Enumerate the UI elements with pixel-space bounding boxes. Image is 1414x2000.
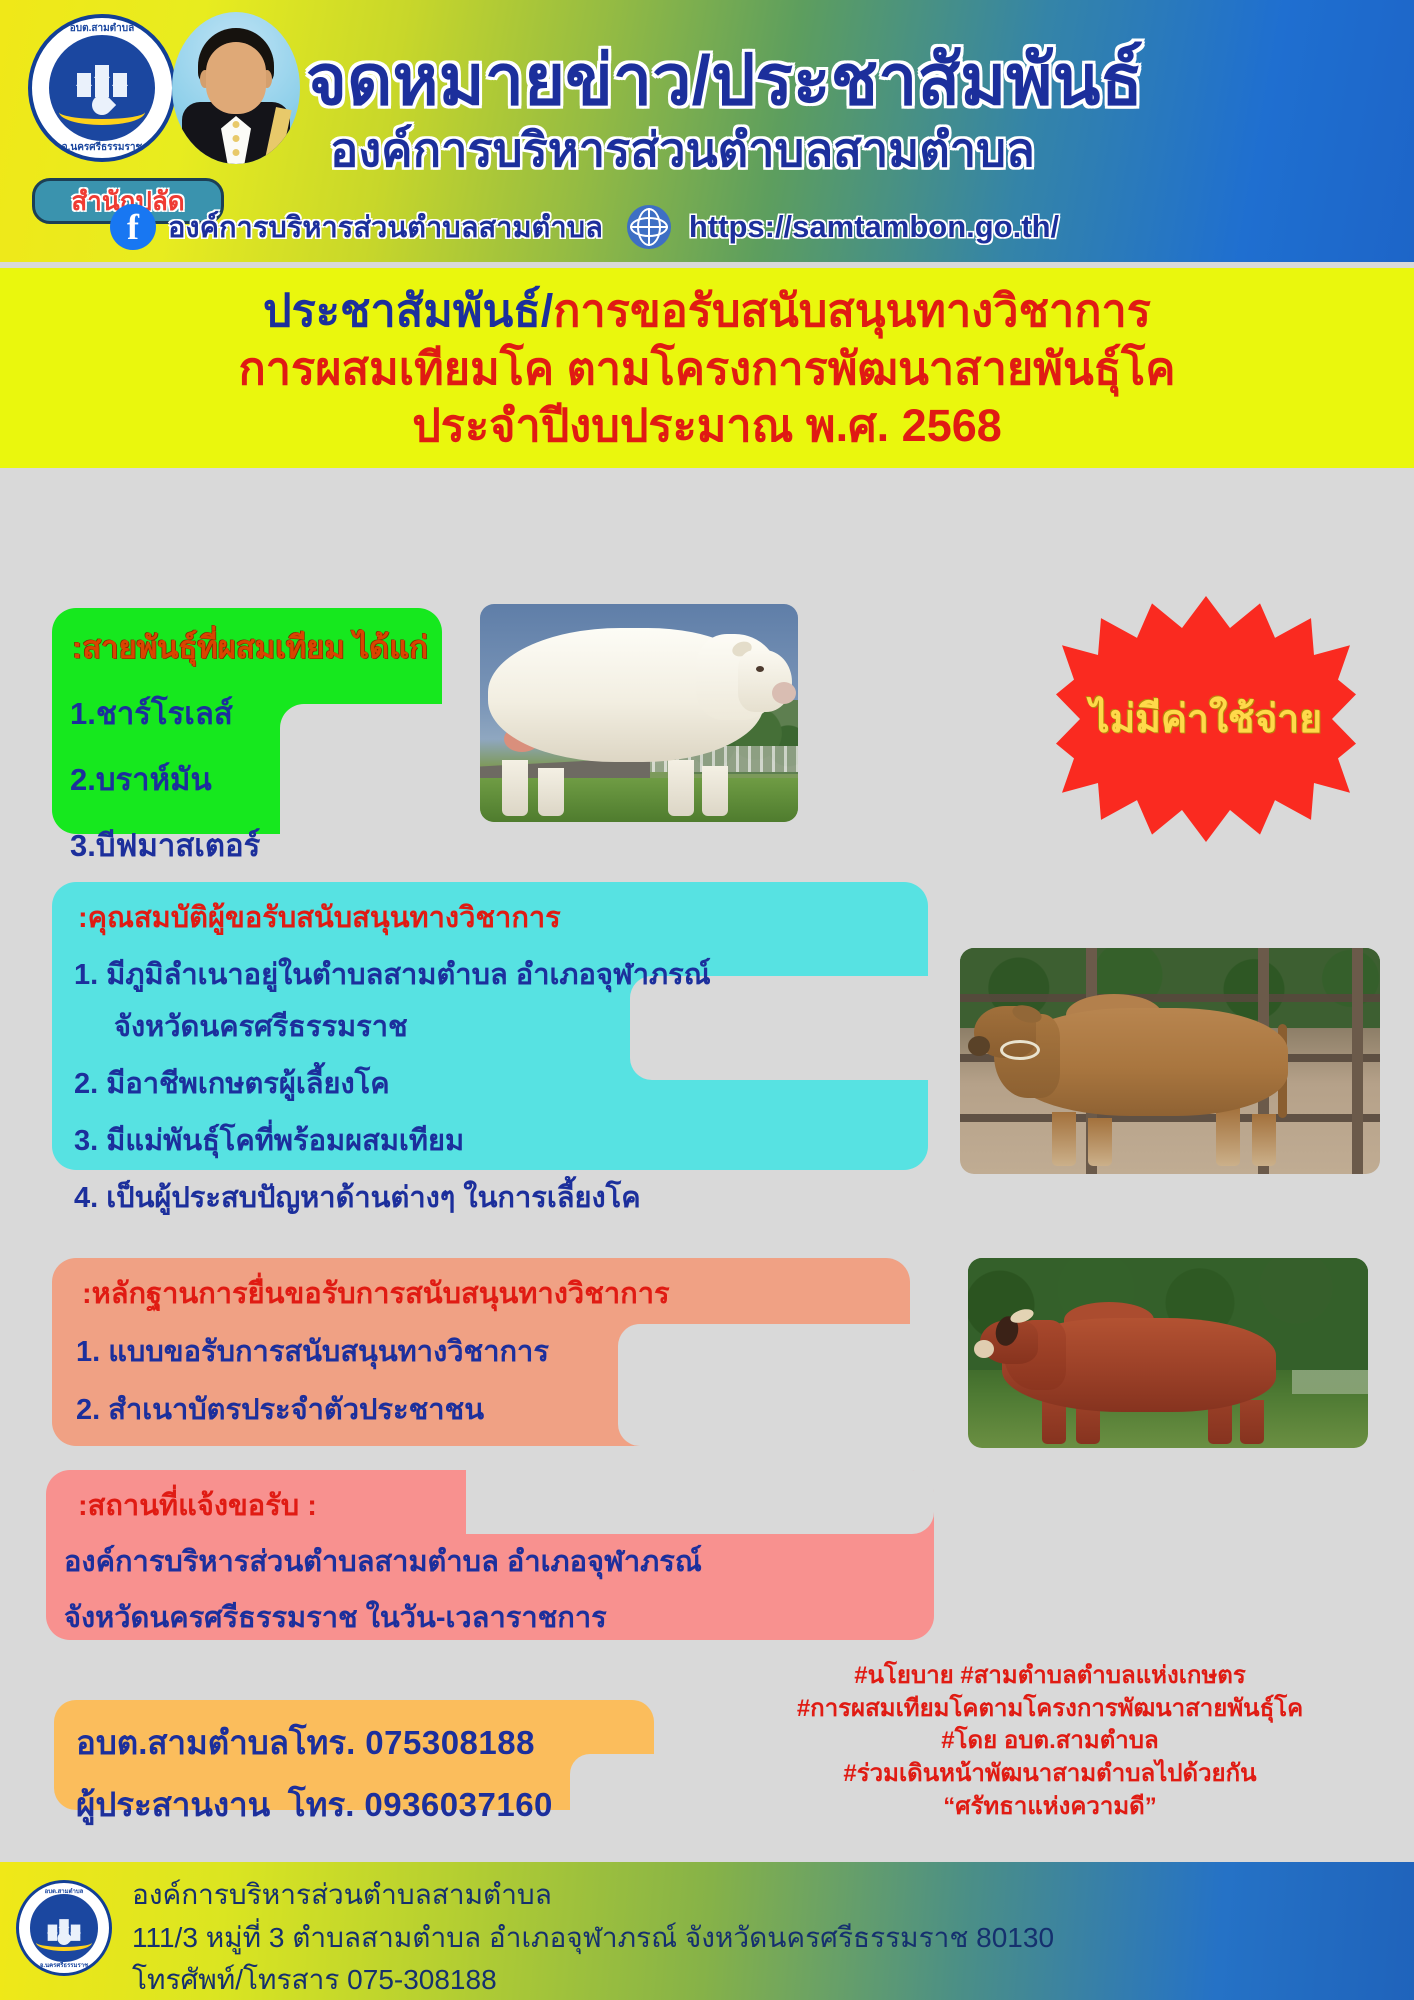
globe-icon[interactable] [627,205,671,249]
contact-phone-box: อบต.สามตำบล โทร. 075308188 ผู้ประสานงาน … [54,1700,654,1810]
list-item: 3. มีแม่พันธุ์โคที่พร้อมผสมเทียม [52,1117,928,1163]
seal-top-text: อบต.สามตำบล [70,21,135,36]
contact-office-label: อบต.สามตำบล [76,1716,289,1769]
portrait-face [206,42,266,114]
footer-org-name: องค์การบริหารส่วนตำบลสามตำบล [132,1874,1054,1917]
announcement-banner: ประชาสัมพันธ์/การขอรับสนับสนุนทางวิชาการ… [0,268,1414,468]
page-subtitle: องค์การบริหารส่วนตำบลสามตำบล [330,112,1035,187]
banner-line-3: ประจำปีงบประมาณ พ.ศ. 2568 [0,397,1414,455]
list-item: 3.บีฟมาสเตอร์ [52,820,442,870]
contact-row-office: อบต.สามตำบล โทร. 075308188 [54,1700,654,1769]
brahman-cow-photo [960,948,1380,1174]
list-item: 1. แบบขอรับการสนับสนุนทางวิชาการ [52,1328,910,1374]
footer-phone: โทรศัพท์/โทรสาร 075-308188 [132,1959,1054,2000]
seal-ring-text: อบต.สามตำบล จ.นครศรีธรรมราช [32,18,172,158]
list-item: จังหวัดนครศรีธรรมราช [52,1003,928,1049]
footer-address: 111/3 หมู่ที่ 3 ตำบลสามตำบล อำเภอจุฬาภรณ… [132,1917,1054,1960]
list-item: 1. มีภูมิลำเนาอยู่ในตำบลสามตำบล อำเภอจุฬ… [52,951,928,997]
banner-line-1-red: การขอรับสนับสนุนทางวิชาการ [553,285,1151,336]
hashtag-line: #นโยบาย #สามตำบลตำบลแห่งเกษตร [700,1660,1400,1693]
avatar [172,12,300,164]
hashtag-block: #นโยบาย #สามตำบลตำบลแห่งเกษตร #การผสมเที… [700,1660,1400,1823]
contact-office-number[interactable]: 075308188 [365,1724,535,1762]
hashtag-line: #การผสมเทียมโคตามโครงการพัฒนาสายพันธุ์โค [700,1693,1400,1726]
facebook-icon[interactable]: f [110,204,156,250]
list-item: 2.บราห์มัน [52,754,442,804]
hashtag-line: #ร่วมเดินหน้าพัฒนาสามตำบลไปด้วยกัน [700,1758,1400,1791]
hashtag-line: #โดย อบต.สามตำบล [700,1725,1400,1758]
submission-location-box: :สถานที่แจ้งขอรับ : องค์การบริหารส่วนตำบ… [46,1470,934,1640]
municipal-seal-icon: อบต.สามตำบล จ.นครศรีธรรมราช [28,14,176,162]
list-item: 2. สำเนาบัตรประจำตัวประชาชน [52,1386,910,1432]
seal-bottom-text: จ.นครศรีธรรมราช [62,140,142,155]
breeds-list-box: :สายพันธุ์ที่ผสมเทียม ได้แก่ 1.ชาร์โรเลส… [52,608,442,834]
breeds-title: :สายพันธุ์ที่ผสมเทียม ได้แก่ [52,622,442,672]
contact-row-coordinator: ผู้ประสานงาน โทร. 0936037160 [54,1769,654,1831]
banner-line-1: ประชาสัมพันธ์/การขอรับสนับสนุนทางวิชาการ [0,282,1414,340]
footer-municipal-seal-icon: อบต.สามตำบล จ.นครศรีธรรมราช [16,1880,112,1976]
footer-seal-top-text: อบต.สามตำบล [45,1886,84,1896]
banner-line-2: การผสมเทียมโค ตามโครงการพัฒนาสายพันธุ์โค [0,340,1414,398]
documents-title: :หลักฐานการยื่นขอรับการสนับสนุนทางวิชากา… [52,1258,910,1316]
facebook-page-label[interactable]: องค์การบริหารส่วนตำบลสามตำบล [168,204,603,250]
poster-footer: อบต.สามตำบล จ.นครศรีธรรมราช องค์การบริหา… [0,1862,1414,2000]
status-badge-label: ไม่มีค่าใช้จ่าย [1090,688,1322,750]
qualifications-title: :คุณสมบัติผู้ขอรับสนับสนุนทางวิชาการ [52,882,928,940]
contact-coordinator-prefix: โทร. [288,1778,354,1831]
website-url[interactable]: https://samtambon.go.th/ [689,209,1059,245]
beefmaster-bull-photo [968,1258,1368,1448]
location-line-1: องค์การบริหารส่วนตำบลสามตำบล อำเภอจุฬาภร… [46,1538,934,1584]
list-item: 4. เป็นผู้ประสบปัญหาด้านต่างๆ ในการเลี้ย… [52,1174,928,1220]
qualifications-box: :คุณสมบัติผู้ขอรับสนับสนุนทางวิชาการ 1. … [52,882,928,1170]
required-documents-box: :หลักฐานการยื่นขอรับการสนับสนุนทางวิชากา… [52,1258,910,1446]
banner-line-1-blue: ประชาสัมพันธ์/ [263,285,553,336]
list-item: 1.ชาร์โรเลส์ [52,688,442,738]
list-item: 2. มีอาชีพเกษตรผู้เลี้ยงโค [52,1060,928,1106]
poster-header: อบต.สามตำบล จ.นครศรีธรรมราช สำนักปลัด จด… [0,0,1414,262]
footer-seal-bottom-text: จ.นครศรีธรรมราช [40,1960,88,1970]
location-line-2: จังหวัดนครศรีธรรมราช ในวัน-เวลาราชการ [46,1594,934,1640]
charolais-bull-photo [480,604,798,822]
contact-coordinator-number[interactable]: 0936037160 [364,1786,553,1824]
location-title: :สถานที่แจ้งขอรับ : [46,1470,934,1528]
slogan-line: “ศรัทธาแห่งความดี” [700,1791,1400,1824]
status-badge: ไม่มีค่าใช้จ่าย [1056,596,1356,842]
footer-address-block: องค์การบริหารส่วนตำบลสามตำบล 111/3 หมู่ท… [132,1874,1054,2000]
contact-coordinator-label: ผู้ประสานงาน [76,1778,288,1831]
social-links-row: f องค์การบริหารส่วนตำบลสามตำบล https://s… [110,204,1059,250]
contact-office-prefix: โทร. [289,1716,355,1769]
